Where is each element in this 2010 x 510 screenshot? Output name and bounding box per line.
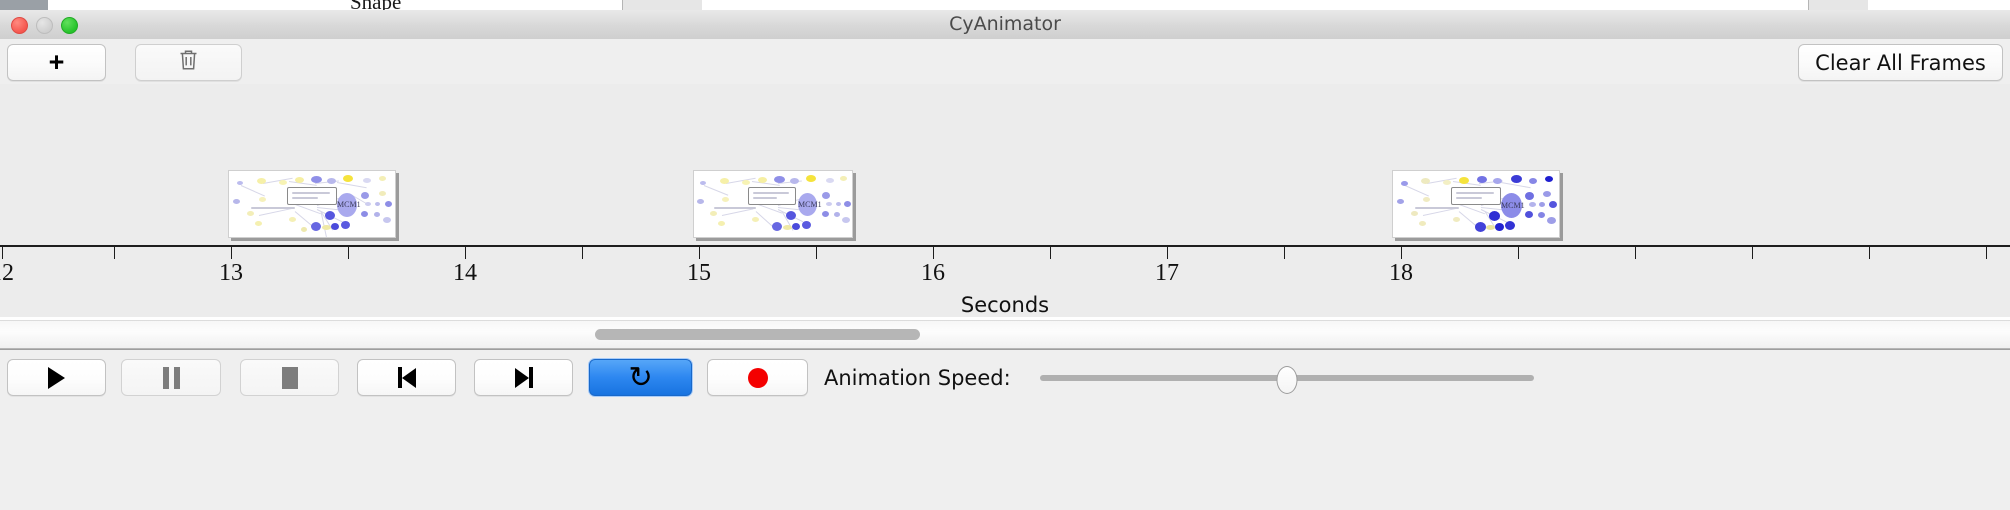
titlebar: CyAnimator	[0, 10, 2010, 40]
ruler-tick-label: 13	[219, 260, 243, 287]
background-window-label: Shape	[350, 0, 401, 10]
skip-forward-button[interactable]	[474, 359, 573, 396]
timeline-scrollbar[interactable]	[0, 320, 2010, 349]
frame-node-label: MCM1	[337, 200, 361, 209]
node-tooltip-box	[1451, 187, 1501, 205]
add-frame-button[interactable]: +	[7, 44, 106, 81]
ruler-tick-label: 12	[0, 260, 14, 287]
network-thumbnail-canvas: MCM1	[1393, 171, 1559, 237]
timeline-ruler[interactable]: 12 13 14 15 16 17 18 Seconds	[0, 245, 2010, 317]
play-icon	[48, 367, 65, 389]
skip-back-button[interactable]	[357, 359, 456, 396]
timeline-frame-thumbnail[interactable]: MCM1	[693, 170, 853, 238]
cyanimator-window: Shape CyAnimator + C	[0, 0, 2010, 510]
skip-forward-icon	[515, 367, 533, 388]
playback-control-bar: ↻ Animation Speed:	[0, 349, 2010, 510]
network-thumbnail-canvas: MCM1	[694, 171, 852, 237]
animation-speed-label: Animation Speed:	[824, 366, 1011, 390]
timeline-frame-thumbnail[interactable]: MCM1	[1392, 170, 1560, 238]
slider-thumb[interactable]	[1277, 366, 1298, 394]
ruler-tick-label: 14	[453, 260, 477, 287]
ruler-baseline	[0, 245, 2010, 247]
frame-node-label: MCM1	[1501, 201, 1525, 210]
ruler-tick-label: 15	[687, 260, 711, 287]
node-tooltip-box	[287, 187, 337, 205]
play-button[interactable]	[7, 359, 106, 396]
background-window-strip: Shape	[0, 0, 2010, 10]
stop-button[interactable]	[240, 359, 339, 396]
window-title: CyAnimator	[0, 10, 2010, 39]
skip-back-icon	[398, 367, 416, 388]
plus-icon: +	[49, 49, 65, 76]
trash-icon	[178, 48, 199, 77]
ruler-tick-label: 18	[1389, 260, 1413, 287]
clear-all-frames-button[interactable]: Clear All Frames	[1798, 44, 2003, 81]
loop-icon: ↻	[628, 363, 652, 392]
record-button[interactable]	[707, 359, 808, 396]
toolbar: + Clear All Frames	[0, 39, 2010, 85]
animation-speed-slider[interactable]	[1040, 368, 1534, 388]
network-thumbnail-canvas: MCM1	[229, 171, 395, 237]
pause-button[interactable]	[121, 359, 221, 396]
timeline-frame-thumbnail[interactable]: MCM1	[228, 170, 396, 238]
axis-title-seconds: Seconds	[0, 293, 2010, 317]
node-tooltip-box	[748, 187, 796, 205]
ruler-tick-label: 16	[921, 260, 945, 287]
clear-all-frames-wrap: Clear All Frames	[1798, 44, 2003, 81]
stop-icon	[282, 367, 298, 389]
ruler-tick-label: 17	[1155, 260, 1179, 287]
delete-frame-button[interactable]	[135, 44, 242, 81]
loop-button[interactable]: ↻	[589, 359, 692, 396]
frame-node-label: MCM1	[798, 200, 822, 209]
pause-icon	[163, 367, 180, 389]
record-icon	[748, 368, 768, 388]
scrollbar-thumb[interactable]	[595, 329, 920, 340]
clear-all-frames-label: Clear All Frames	[1815, 51, 1986, 75]
